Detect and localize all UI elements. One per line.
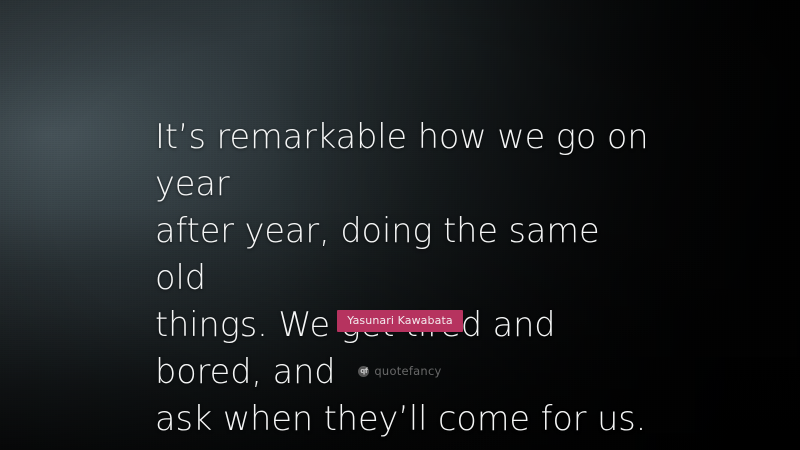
quote-text: It’s remarkable how we go on year after …	[155, 113, 655, 442]
quotefancy-logo-glyph: qf	[360, 368, 367, 375]
author-name-badge: Yasunari Kawabata	[337, 310, 462, 332]
watermark-brand-label: quotefancy	[374, 366, 441, 378]
watermark: qf quotefancy	[0, 366, 800, 378]
author-attribution: Yasunari Kawabata	[0, 310, 800, 332]
quotefancy-logo-icon: qf	[358, 366, 369, 377]
card-content: It’s remarkable how we go on year after …	[0, 0, 800, 450]
quote-card: It’s remarkable how we go on year after …	[0, 0, 800, 450]
